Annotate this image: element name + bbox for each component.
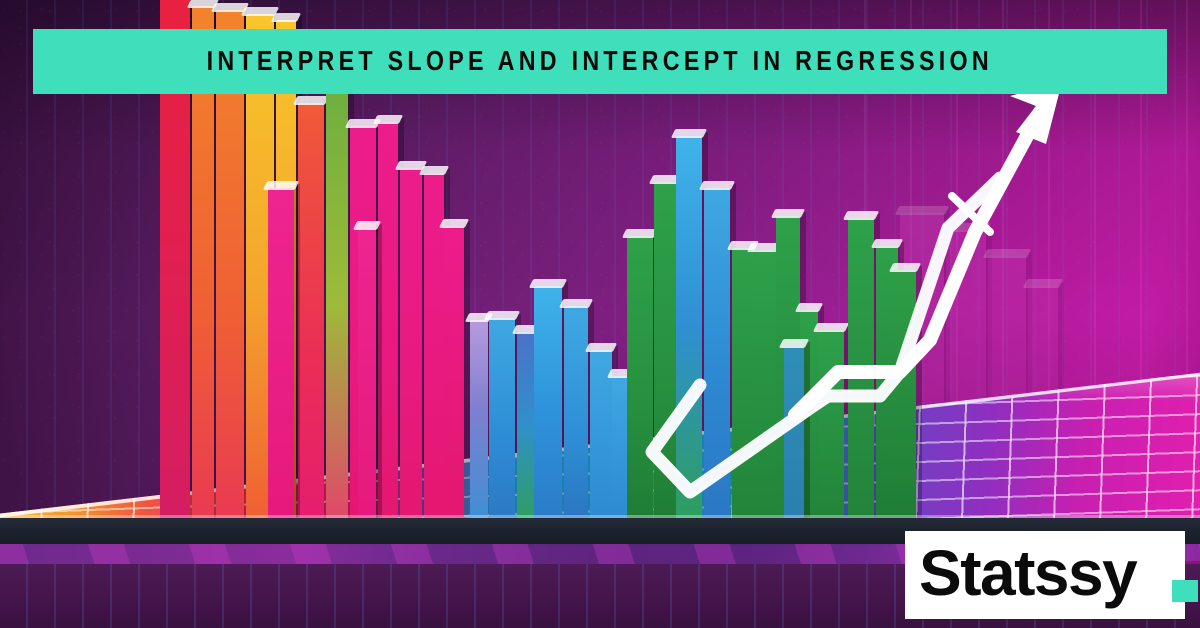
page-title: Interpret Slope and Intercept in Regress… xyxy=(207,45,993,77)
bar-mid-11 xyxy=(704,188,730,518)
bar-mid-20 xyxy=(894,270,916,518)
bar-mid-5 xyxy=(564,306,588,518)
bar-mid-16 xyxy=(784,346,804,518)
title-banner: Interpret Slope and Intercept in Regress… xyxy=(33,29,1167,94)
bar-mid-8 xyxy=(627,236,653,518)
bar-mid-18 xyxy=(848,218,874,518)
bar-mid-2 xyxy=(489,318,515,518)
bar-mid-12 xyxy=(732,248,754,518)
brand-name: Statssy xyxy=(905,541,1136,605)
platform-top-highlight xyxy=(0,515,1200,518)
poster-canvas: Interpret Slope and Intercept in Regress… xyxy=(0,0,1200,628)
bar-mid-10 xyxy=(676,136,702,518)
brand-accent-square xyxy=(1172,580,1198,602)
bar-mid-1 xyxy=(470,320,488,518)
brand-logo[interactable]: Statssy xyxy=(905,531,1185,619)
bar-mid-17 xyxy=(818,330,844,518)
bar-mid-4 xyxy=(534,286,562,518)
bar-mid-13 xyxy=(752,250,776,518)
bar-mid-9 xyxy=(654,182,678,518)
